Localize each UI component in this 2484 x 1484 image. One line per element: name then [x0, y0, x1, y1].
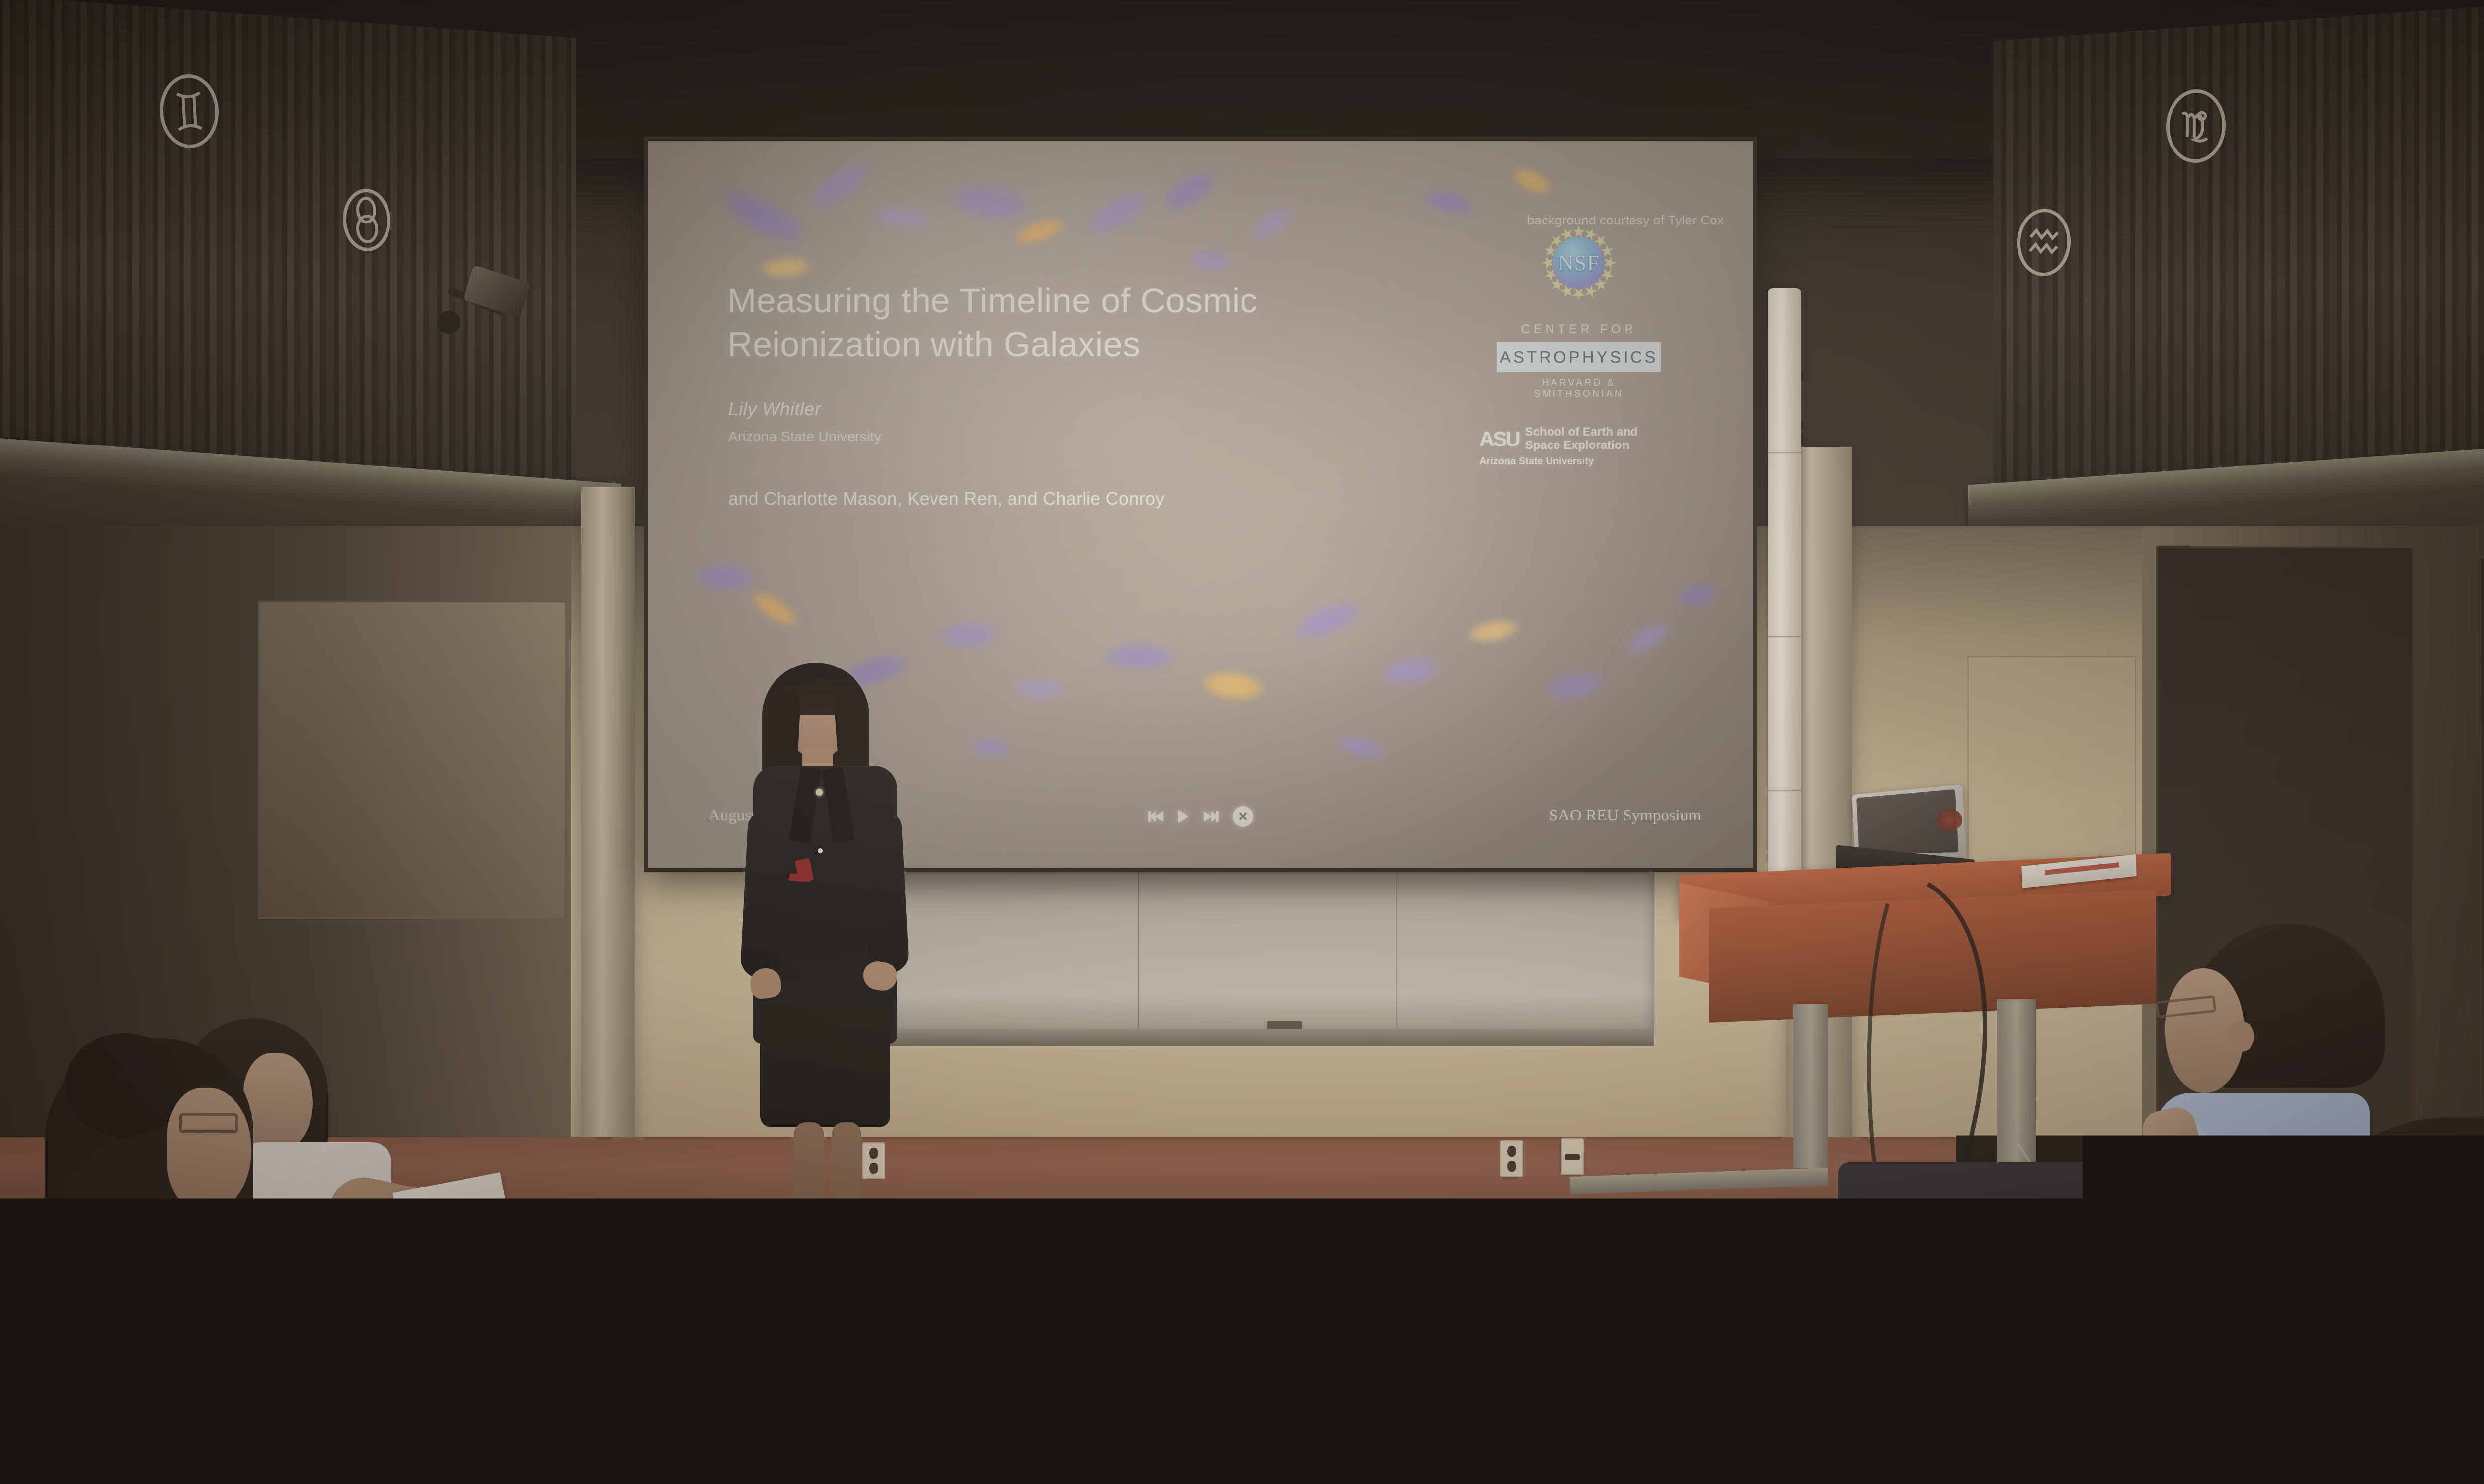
audience-shirt [2285, 1415, 2484, 1484]
nsf-globe: NSF [1553, 237, 1605, 289]
ceiling-recess [522, 0, 2161, 159]
close-icon[interactable]: ✕ [1233, 806, 1253, 827]
presenter-arm-right [862, 809, 909, 974]
nsf-logo-icon: NSF [1541, 225, 1617, 300]
filament-blob [1674, 581, 1721, 609]
filament-hotspot [1199, 668, 1268, 704]
presenter-lanyard-tail [789, 874, 811, 882]
filament-blob [934, 618, 1003, 653]
slide-title-line-2: Reionization with Galaxies [727, 322, 1348, 366]
slide-event-name: SAO REU Symposium [1549, 807, 1701, 825]
asu-wordmark: ASU [1479, 427, 1519, 451]
next-slide-icon[interactable] [1203, 809, 1220, 824]
slide-author: Lily Whitler [728, 399, 821, 420]
filament-blob [1286, 592, 1369, 649]
slide-title: Measuring the Timeline of Cosmic Reioniz… [727, 279, 1348, 366]
audience-hair-bun [65, 1033, 184, 1137]
audience-member-left-front [0, 1038, 358, 1484]
spotlight-head [463, 265, 531, 318]
presenter-jacket-button [818, 848, 823, 853]
filament-hotspot [746, 586, 804, 634]
laptop-sticker [1937, 809, 1962, 831]
slide-title-line-1: Measuring the Timeline of Cosmic [727, 279, 1348, 322]
filament-blob [1331, 730, 1390, 765]
slide-coauthors: and Charlotte Mason, Keven Ren, and Char… [728, 488, 1164, 509]
play-icon[interactable] [1177, 809, 1190, 824]
column-left [581, 487, 635, 1172]
audience-blouse-pattern [0, 1316, 343, 1484]
whiteboard-tray [889, 1029, 1654, 1046]
audience-member-right-near [2265, 1117, 2484, 1484]
wall-outlet [1500, 1140, 1523, 1177]
nsf-star-icon [1603, 256, 1616, 269]
filament-hotspot [1507, 161, 1556, 201]
audience-chair [1754, 1341, 2141, 1484]
filament-blob [967, 735, 1013, 761]
eyeglasses-icon [179, 1113, 238, 1133]
asu-school-name: School of Earth and Space Exploration [1525, 426, 1638, 452]
presenter [735, 661, 914, 1301]
sponsor-logo-stack: NSF CENTER FOR ASTROPHYSICS HARVARD & SM… [1475, 225, 1683, 467]
spotlight-mount [437, 311, 460, 334]
presenter-leg-right [832, 1122, 861, 1257]
lecture-hall-scene: background courtesy of Tyler Cox Measuri… [0, 0, 2484, 1484]
audience-face [167, 1088, 251, 1212]
doorway-far-right [2479, 556, 2484, 1152]
whiteboard-seam [1138, 844, 1139, 1033]
whiteboard-niche [889, 844, 1654, 1033]
cfa-line-2: ASTROPHYSICS [1497, 342, 1661, 372]
presentation-playback-controls[interactable]: ✕ [1147, 806, 1253, 827]
previous-slide-icon[interactable] [1147, 809, 1164, 824]
asu-school-line-1: School of Earth and [1525, 426, 1638, 439]
handout-paper [1906, 1286, 2074, 1352]
presenter-shoe-left [783, 1246, 833, 1277]
asu-university-name: Arizona State University [1479, 456, 1594, 467]
podium [1679, 864, 2171, 1202]
asu-logo: ASU School of Earth and Space Exploratio… [1479, 426, 1678, 467]
podium-leg-left [1793, 1004, 1828, 1168]
filament-blob [1100, 642, 1178, 672]
hair-clip [60, 1222, 77, 1239]
podium-front-face [1709, 890, 2156, 1023]
filament-blob [1375, 651, 1446, 691]
presenter-leg-left [794, 1122, 824, 1257]
nsf-star-icon [1572, 287, 1585, 300]
whiteboard-seam [1396, 844, 1397, 1033]
hair-clip [92, 1261, 107, 1276]
presenter-skirt [760, 1003, 890, 1127]
filament-hotspot [1464, 615, 1523, 647]
filament-blob [692, 561, 759, 593]
center-for-astrophysics-logo: CENTER FOR ASTROPHYSICS HARVARD & SMITHS… [1497, 322, 1661, 400]
slide-affiliation: Arizona State University [728, 429, 881, 445]
wall-plate [1561, 1138, 1584, 1175]
speaker-tower [1768, 288, 1801, 954]
filament-blob [1419, 185, 1478, 220]
filament-blob [1619, 615, 1677, 663]
filament-blob [1012, 677, 1068, 701]
filament-blob [1541, 666, 1611, 707]
podium-leg-right [1997, 999, 2036, 1168]
audience-ear [2285, 1271, 2328, 1326]
audience-ear [2229, 1021, 2254, 1052]
stage-spotlight-icon [437, 268, 542, 353]
wall-panel-left [258, 601, 566, 919]
cfa-line-1: CENTER FOR [1497, 322, 1661, 337]
asu-school-line-2: Space Exploration [1525, 439, 1638, 452]
cfa-line-3: HARVARD & SMITHSONIAN [1497, 378, 1661, 400]
presenter-necklace [816, 789, 823, 796]
